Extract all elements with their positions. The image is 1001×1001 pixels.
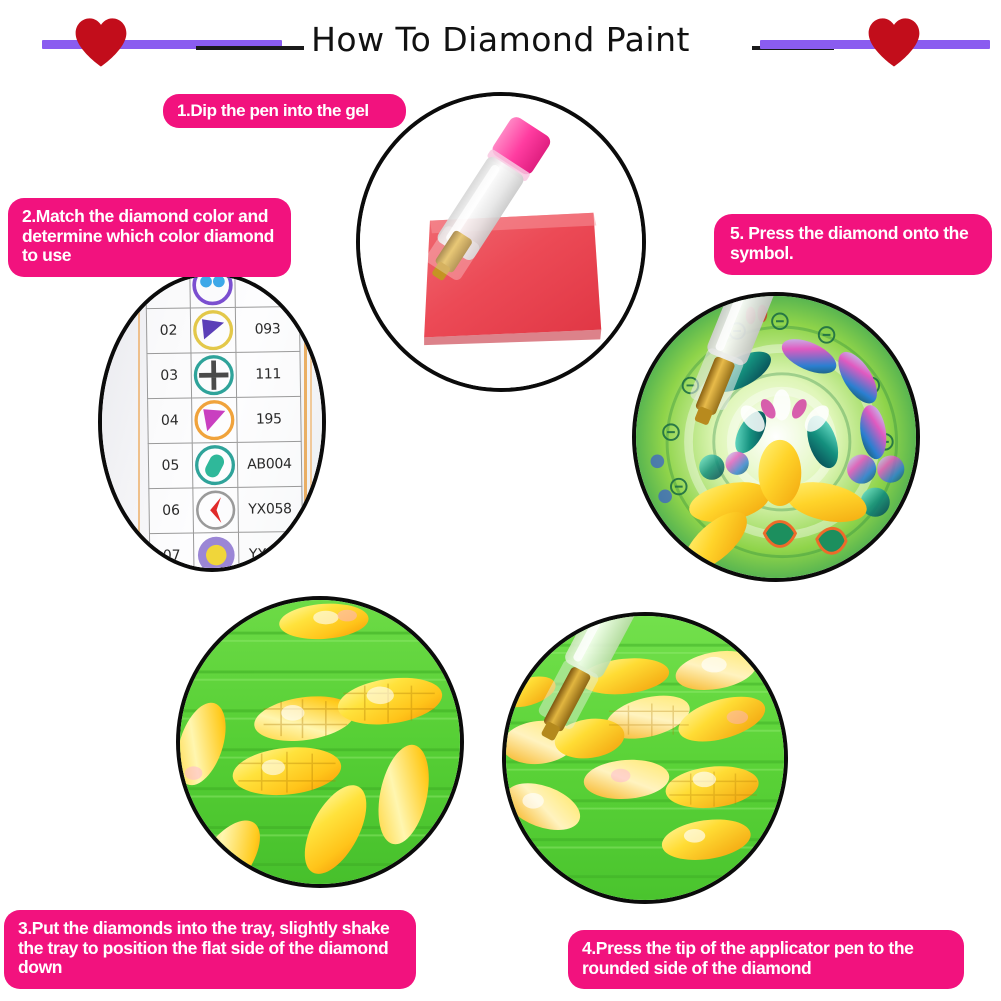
table-row: 05 AB004 bbox=[148, 441, 302, 488]
table-row: 02 093 bbox=[146, 306, 300, 353]
chart-margin-line bbox=[138, 272, 140, 572]
step-4-label: 4.Press the tip of the applicator pen to… bbox=[568, 930, 964, 989]
chart-code: YX058 bbox=[238, 486, 303, 532]
chart-code: AB004 bbox=[237, 441, 302, 487]
chart-symbol-dot-in-ring-icon bbox=[193, 532, 239, 572]
chart-code: 093 bbox=[235, 306, 300, 352]
chart-number: 05 bbox=[148, 443, 192, 489]
table-row: 06 YX058 bbox=[149, 486, 303, 533]
chart-code: 020 bbox=[235, 272, 300, 307]
chart-code: 111 bbox=[236, 351, 301, 397]
heart-icon bbox=[865, 14, 923, 72]
chart-code: 195 bbox=[236, 396, 301, 442]
page-header: How To Diamond Paint bbox=[0, 0, 1001, 80]
chart-number: 03 bbox=[147, 353, 191, 399]
chart-orange-stripe-2 bbox=[310, 272, 312, 572]
step-1-label: 1.Dip the pen into the gel bbox=[163, 94, 406, 128]
table-row: 020 bbox=[146, 272, 300, 309]
placing-diamond-on-canvas-photo bbox=[632, 292, 920, 582]
table-row: 07 YX083 bbox=[149, 531, 303, 572]
table-row: 04 195 bbox=[148, 396, 302, 443]
pen-picking-up-diamond-photo bbox=[502, 612, 788, 904]
color-chart-table-photo: 020 02 093 03 111 04 bbox=[98, 272, 326, 572]
chart-number bbox=[146, 272, 190, 309]
chart-orange-stripe bbox=[304, 272, 307, 572]
chart-code: YX083 bbox=[238, 531, 303, 572]
table-row: 03 111 bbox=[147, 351, 301, 398]
diamonds-in-green-tray-photo bbox=[176, 596, 464, 888]
chart-symbol-triangle-icon bbox=[190, 307, 236, 353]
chart-number: 04 bbox=[148, 398, 192, 444]
chart-number: 06 bbox=[149, 488, 193, 534]
step-3-label: 3.Put the diamonds into the tray, slight… bbox=[4, 910, 416, 989]
step-2-label: 2.Match the diamond color and determine … bbox=[8, 198, 291, 277]
chart-symbol-capsule-icon bbox=[192, 442, 238, 488]
chart-number: 07 bbox=[149, 533, 193, 572]
chart-symbol-chevron-icon bbox=[193, 487, 239, 533]
chart-symbol-double-dot-circle-icon bbox=[190, 272, 236, 308]
chart-number: 02 bbox=[146, 308, 190, 354]
pen-dipping-into-gel-photo bbox=[356, 92, 646, 392]
color-chart-table: 020 02 093 03 111 04 bbox=[145, 272, 305, 572]
step-5-label: 5. Press the diamond onto the symbol. bbox=[714, 214, 992, 275]
color-chart-surface: 020 02 093 03 111 04 bbox=[102, 276, 322, 568]
chart-symbol-plus-icon bbox=[191, 352, 237, 398]
chart-symbol-triangle-icon bbox=[191, 397, 237, 443]
